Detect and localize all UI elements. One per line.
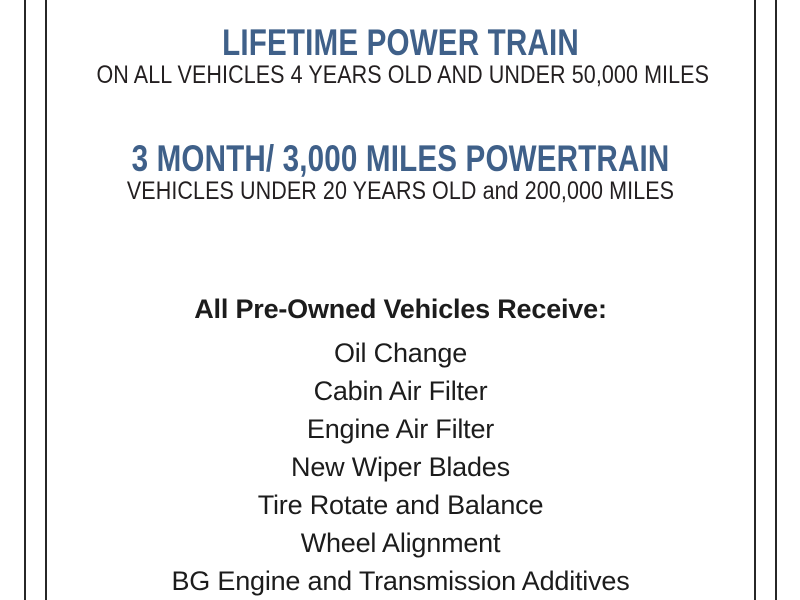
list-item: Tire Rotate and Balance [47, 486, 754, 524]
list-item: Oil Change [47, 334, 754, 372]
services-heading: All Pre-Owned Vehicles Receive: [47, 296, 754, 323]
list-item: Cabin Air Filter [47, 372, 754, 410]
warranty-block-lifetime: LIFETIME POWER TRAIN ON ALL VEHICLES 4 Y… [47, 24, 754, 88]
list-item: BG Engine and Transmission Additives [47, 562, 754, 600]
right-outer-rule [775, 0, 777, 600]
warranty-title-three-month: 3 MONTH/ 3,000 MILES POWERTRAIN [118, 140, 684, 178]
list-item: Engine Air Filter [47, 410, 754, 448]
warranty-subtitle-lifetime: ON ALL VEHICLES 4 YEARS OLD AND UNDER 50… [96, 62, 704, 88]
warranty-title-lifetime: LIFETIME POWER TRAIN [118, 24, 684, 62]
warranty-subtitle-three-month: VEHICLES UNDER 20 YEARS OLD and 200,000 … [96, 178, 704, 204]
left-outer-rule [24, 0, 26, 600]
warranty-block-three-month: 3 MONTH/ 3,000 MILES POWERTRAIN VEHICLES… [47, 140, 754, 204]
content-column: LIFETIME POWER TRAIN ON ALL VEHICLES 4 Y… [47, 0, 754, 600]
list-item: Wheel Alignment [47, 524, 754, 562]
right-inner-rule [754, 0, 756, 600]
services-section: All Pre-Owned Vehicles Receive: Oil Chan… [47, 296, 754, 600]
list-item: New Wiper Blades [47, 448, 754, 486]
flyer-canvas: LIFETIME POWER TRAIN ON ALL VEHICLES 4 Y… [0, 0, 800, 600]
